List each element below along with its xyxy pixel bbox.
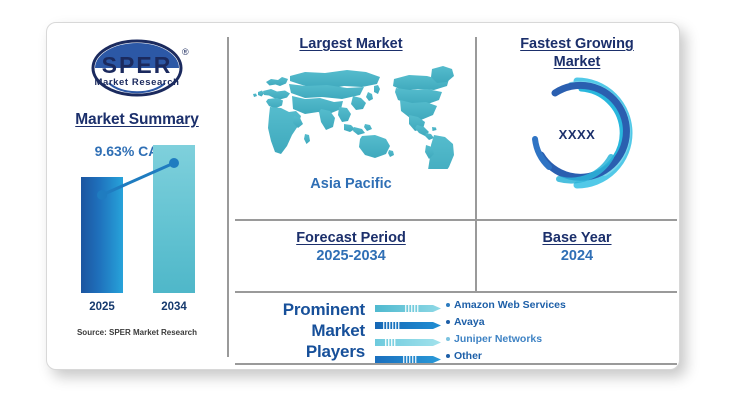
fastest-growing-market-cell: Fastest Growing Market — [477, 31, 677, 213]
cagr-value: 9.63% CAGR — [47, 143, 227, 159]
legend-dot-icon — [446, 303, 450, 307]
players-legend-list: Amazon Web Services — [375, 296, 566, 364]
forecast-period-value: 2025-2034 — [229, 247, 473, 266]
legend-bar-icon — [375, 351, 443, 360]
metrics-grid: Largest Market — [229, 23, 679, 369]
players-label-line1: Prominent — [283, 300, 365, 319]
market-size-bar-chart: 2025 2034 — [65, 173, 215, 315]
logo-brand-text: SPER — [102, 52, 173, 78]
base-year-value: 2024 — [477, 247, 677, 266]
largest-market-value: Asia Pacific — [229, 175, 473, 194]
logo-tagline-text: Market Research — [94, 77, 179, 88]
legend-dot-icon — [446, 337, 450, 341]
bar-label-2025: 2025 — [81, 301, 123, 313]
player-name: Avaya — [454, 316, 485, 328]
divider-row-2 — [235, 291, 677, 293]
chart-source-text: Source: SPER Market Research — [47, 328, 227, 337]
list-item: Avaya — [375, 313, 566, 330]
list-item: Other — [375, 347, 566, 364]
infographic-canvas: SPER Market Research ® Market Summary 9.… — [0, 0, 729, 400]
players-label-line3: Players — [306, 342, 365, 361]
sper-logo: SPER Market Research ® — [69, 37, 205, 99]
trend-line — [65, 173, 215, 315]
base-year-cell: Base Year 2024 — [477, 221, 677, 285]
registered-mark-icon: ® — [182, 47, 189, 57]
player-name: Juniper Networks — [454, 333, 542, 345]
player-name: Other — [454, 350, 482, 362]
fastest-growing-value: XXXX — [477, 75, 677, 193]
base-year-title: Base Year — [477, 229, 677, 247]
forecast-period-cell: Forecast Period 2025-2034 — [229, 221, 473, 285]
player-name: Amazon Web Services — [454, 299, 566, 311]
legend-bar-icon — [375, 300, 443, 309]
legend-bar-icon — [375, 334, 443, 343]
world-map-icon — [229, 61, 473, 171]
legend-bar-icon — [375, 317, 443, 326]
market-summary-heading: Market Summary — [47, 111, 227, 129]
prominent-market-players-label: Prominent Market Players — [237, 299, 365, 362]
market-summary-panel: SPER Market Research ® Market Summary 9.… — [47, 23, 227, 369]
players-label-line2: Market — [311, 321, 365, 340]
list-item: Juniper Networks — [375, 330, 566, 347]
infographic-card: SPER Market Research ® Market Summary 9.… — [46, 22, 680, 370]
fastest-growing-title-line1: Fastest Growing — [520, 36, 634, 52]
largest-market-cell: Largest Market — [229, 31, 473, 213]
circular-arc-ring-icon: XXXX — [477, 75, 677, 193]
legend-dot-icon — [446, 354, 450, 358]
fastest-growing-title-line2: Market — [554, 54, 601, 70]
prominent-market-players-cell: Prominent Market Players — [229, 295, 679, 365]
largest-market-title: Largest Market — [229, 35, 473, 53]
bar-label-2034: 2034 — [153, 301, 195, 313]
list-item: Amazon Web Services — [375, 296, 566, 313]
forecast-period-title: Forecast Period — [229, 229, 473, 247]
legend-dot-icon — [446, 320, 450, 324]
